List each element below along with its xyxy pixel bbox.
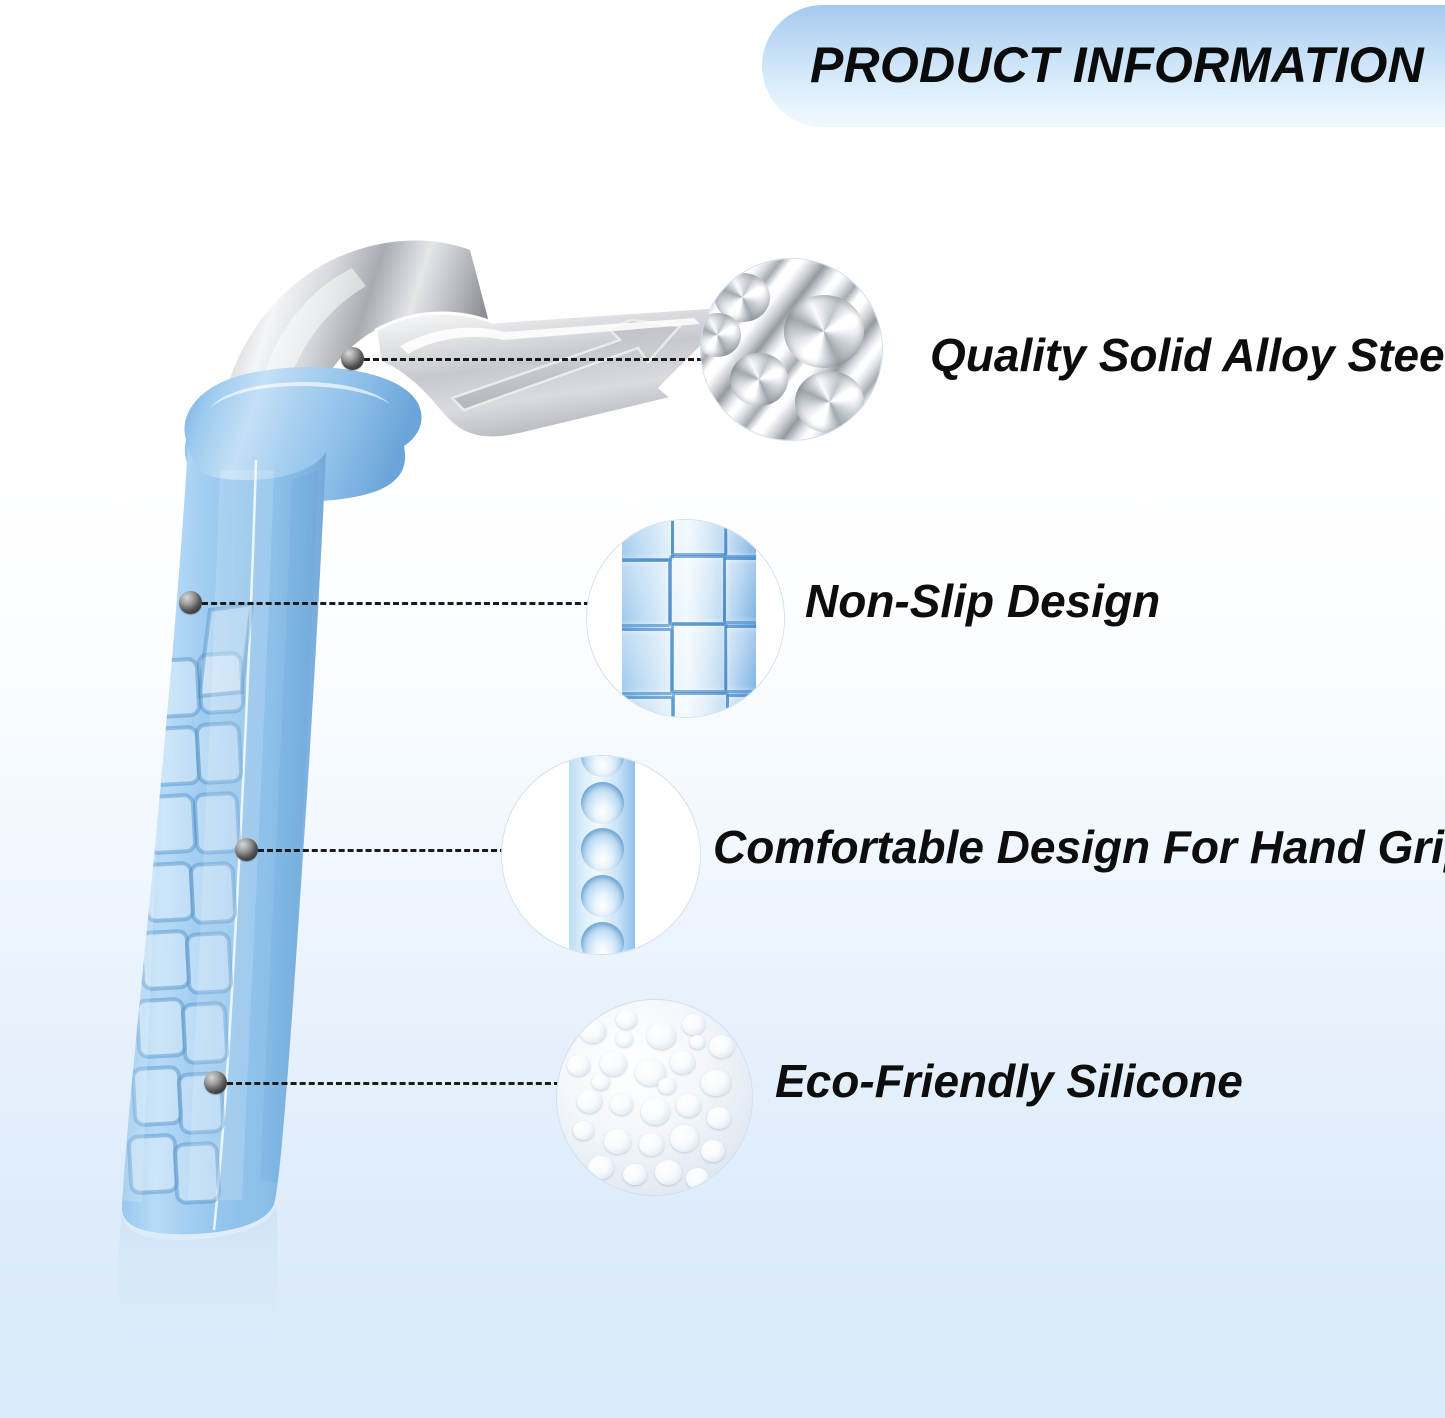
feature-label-dimple: Comfortable Design For Hand Grip [713, 824, 1445, 870]
callout-line-pellets [227, 1082, 560, 1085]
callout-line-steel [364, 358, 703, 361]
feature-label-pellets: Eco-Friendly Silicone [775, 1058, 1243, 1104]
page-title: PRODUCT INFORMATION [810, 40, 1424, 90]
callout-dot-dimple [235, 838, 258, 861]
callout-line-grip [202, 602, 590, 605]
feature-label-grip: Non-Slip Design [805, 578, 1160, 624]
callout-dot-steel [341, 347, 364, 370]
callout-dot-pellets [204, 1071, 227, 1094]
product-infographic: PRODUCT INFORMATION [0, 0, 1445, 1418]
grid-texture-icon [586, 519, 785, 718]
handle-reflection [118, 1206, 278, 1418]
callout-dot-grip [179, 591, 202, 614]
feature-label-steel: Quality Solid Alloy Steel [930, 332, 1445, 378]
silicone-handle [118, 445, 326, 1234]
finger-dimple-icon [501, 755, 701, 955]
steel-rods-icon [700, 258, 883, 441]
callout-line-dimple [258, 849, 506, 852]
silicone-pellets-icon [556, 999, 753, 1196]
header-banner: PRODUCT INFORMATION [762, 5, 1445, 127]
